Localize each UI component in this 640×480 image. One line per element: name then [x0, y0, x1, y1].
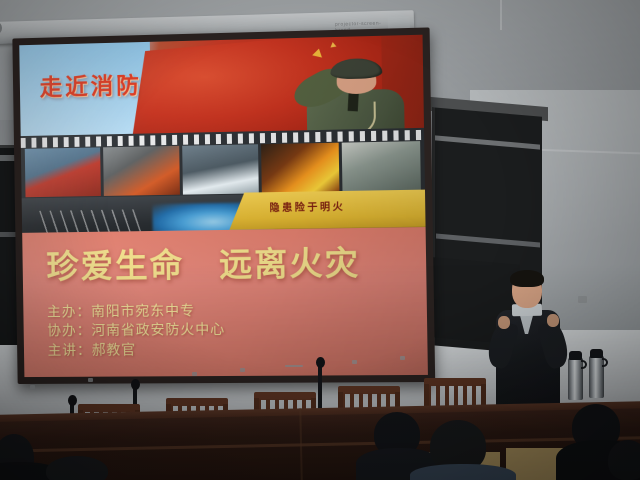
projection-screen: 走近消防 隐患险于明火 珍爱生命 远离火灾	[12, 27, 435, 384]
filmstrip-frames	[25, 141, 421, 197]
firefighter-tie	[347, 91, 358, 112]
credit-presenter: 主讲：郝教官	[48, 339, 420, 361]
microphone-head-icon	[316, 357, 325, 368]
thermos-flask	[589, 356, 604, 398]
thermos-flask	[568, 358, 583, 400]
wall-fixture	[352, 360, 357, 364]
slide-logo-text: 走近消防	[39, 65, 142, 101]
filmstrip-frame	[261, 143, 339, 193]
thermos-cap	[590, 349, 603, 358]
audience-head	[608, 440, 640, 480]
wall-fixture	[400, 356, 405, 360]
yellow-banner-text: 隐患险于明火	[269, 198, 345, 214]
speaker-right-hand	[547, 314, 559, 327]
wall-fixture	[285, 365, 303, 367]
filmstrip-frame	[103, 146, 180, 196]
wall-fixture	[30, 385, 35, 389]
speaker-hair	[510, 270, 544, 287]
slide-surface: 走近消防 隐患险于明火 珍爱生命 远离火灾	[19, 35, 428, 377]
speaker-left-hand	[498, 316, 510, 329]
audience-shoulders	[410, 464, 516, 480]
wall-seam	[500, 0, 502, 30]
wall-fixture	[88, 378, 93, 382]
firefighter-helmet	[331, 58, 382, 80]
thermos-cap	[569, 351, 582, 360]
audience-head	[46, 456, 108, 480]
filmstrip-graphic	[21, 128, 425, 199]
microphone-head-icon	[131, 379, 140, 390]
wall-fixture	[192, 372, 197, 376]
slide-credits: 主办：南阳市宛东中专 协办：河南省政安防火中心 主讲：郝教官	[47, 300, 419, 361]
filmstrip-frame	[182, 144, 259, 194]
wall-fixture	[240, 368, 245, 372]
slide-headline: 珍爱生命 远离火灾	[46, 236, 402, 288]
filmstrip-frame	[25, 148, 101, 197]
microphone-head-icon	[68, 395, 77, 406]
filmstrip-frame	[342, 141, 421, 191]
wall-socket	[578, 296, 587, 303]
photo-scene: projector-screen-brand 走近消防	[0, 0, 640, 480]
flag-star-small-icon	[330, 41, 337, 47]
speaker-figure	[492, 272, 564, 420]
